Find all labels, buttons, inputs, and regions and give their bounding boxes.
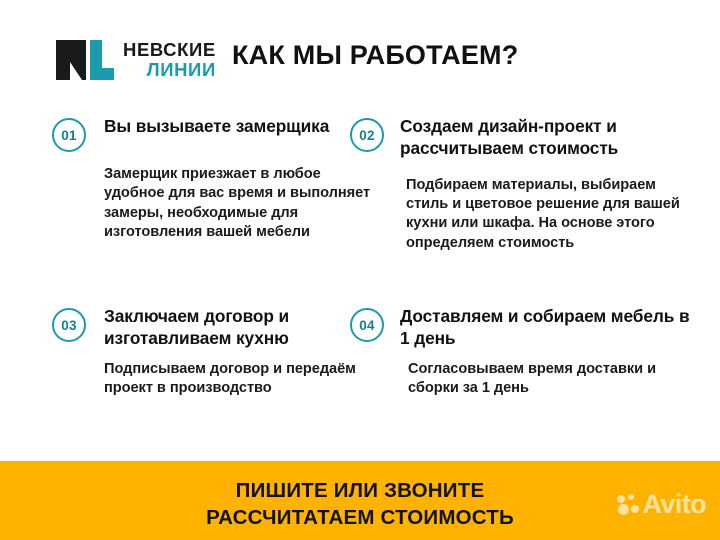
brand-logo-text: НЕВСКИЕ ЛИНИИ [123, 41, 216, 80]
step-description: Подбираем материалы, выбираем стиль и цв… [406, 176, 700, 254]
cta-line-2: РАССЧИТАТАЕМ СТОИМОСТЬ [0, 504, 720, 531]
step-description: Согласовываем время доставки и сборки за… [408, 360, 700, 399]
step-header: 03 Заключаем договор и изготавливаем кух… [52, 306, 382, 350]
step-card-03: 03 Заключаем договор и изготавливаем кух… [52, 306, 382, 398]
step-header: 04 Доставляем и собираем мебель в 1 день [350, 306, 700, 350]
steps-grid: 01 Вы вызываете замерщика Замерщик приез… [0, 108, 720, 453]
poster-header: НЕВСКИЕ ЛИНИИ КАК МЫ РАБОТАЕМ? [0, 0, 720, 100]
step-number-badge: 04 [350, 308, 384, 342]
step-header: 02 Создаем дизайн-проект и рассчитываем … [350, 116, 700, 160]
step-number-badge: 02 [350, 118, 384, 152]
brand-logo: НЕВСКИЕ ЛИНИИ [56, 38, 216, 82]
avito-logo-icon [617, 494, 640, 516]
step-number-badge: 01 [52, 118, 86, 152]
brand-logo-line2: ЛИНИИ [123, 61, 216, 80]
cta-line-1: ПИШИТЕ ИЛИ ЗВОНИТЕ [0, 477, 720, 504]
step-header: 01 Вы вызываете замерщика [52, 116, 382, 152]
step-number-badge: 03 [52, 308, 86, 342]
step-card-02: 02 Создаем дизайн-проект и рассчитываем … [350, 116, 700, 253]
avito-wordmark: Avito [643, 491, 707, 518]
step-description: Замерщик приезжает в любое удобное для в… [104, 165, 382, 243]
cta-banner-text: ПИШИТЕ ИЛИ ЗВОНИТЕ РАССЧИТАТАЕМ СТОИМОСТ… [0, 477, 720, 531]
cta-banner: ПИШИТЕ ИЛИ ЗВОНИТЕ РАССЧИТАТАЕМ СТОИМОСТ… [0, 461, 720, 540]
step-title: Доставляем и собираем мебель в 1 день [400, 306, 700, 350]
step-card-04: 04 Доставляем и собираем мебель в 1 день… [350, 306, 700, 398]
step-title: Вы вызываете замерщика [104, 116, 329, 138]
poster-canvas: НЕВСКИЕ ЛИНИИ КАК МЫ РАБОТАЕМ? 01 Вы выз… [0, 0, 720, 540]
avito-watermark: Avito [617, 491, 707, 518]
step-title: Создаем дизайн-проект и рассчитываем сто… [400, 116, 700, 160]
brand-logo-line1: НЕВСКИЕ [123, 41, 216, 60]
nevskie-linii-logo-icon [56, 40, 114, 80]
step-card-01: 01 Вы вызываете замерщика Замерщик приез… [52, 116, 382, 243]
step-description: Подписываем договор и передаём проект в … [104, 360, 382, 399]
step-title: Заключаем договор и изготавливаем кухню [104, 306, 382, 350]
page-title: КАК МЫ РАБОТАЕМ? [232, 40, 518, 71]
